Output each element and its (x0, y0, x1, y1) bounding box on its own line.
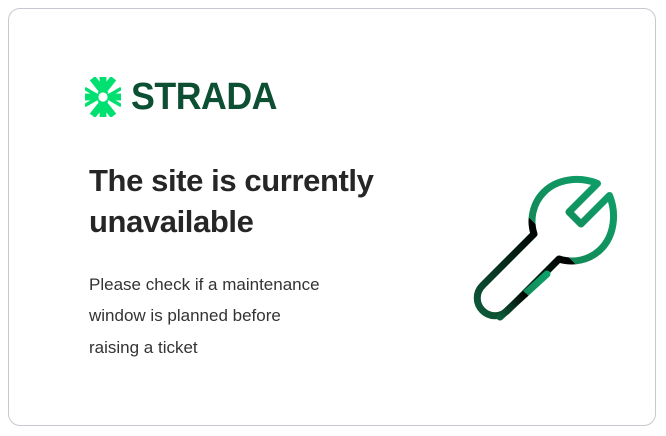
brand-wordmark: STRADA (131, 78, 277, 116)
strada-asterisk-icon (85, 77, 121, 117)
body-copy-line: window is planned before (89, 300, 419, 331)
page-title: The site is currently unavailable (89, 161, 419, 243)
message-block: The site is currently unavailable Please… (89, 161, 419, 363)
body-copy-line: Please check if a maintenance (89, 269, 419, 300)
body-copy-line: raising a ticket (89, 332, 419, 363)
status-card: STRADA The site is currently unavailable… (8, 8, 656, 426)
body-copy: Please check if a maintenance window is … (89, 243, 419, 363)
wrench-icon (461, 157, 631, 327)
brand-lockup: STRADA (85, 77, 286, 117)
